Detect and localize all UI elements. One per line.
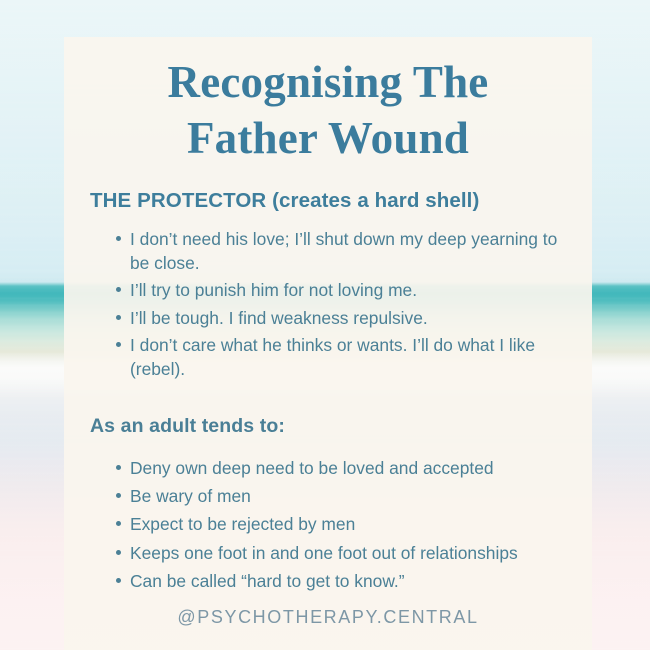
- protector-bullet-list: I don’t need his love; I’ll shut down my…: [64, 213, 592, 382]
- list-item: I don’t need his love; I’ll shut down my…: [116, 227, 558, 276]
- list-item: I’ll try to punish him for not loving me…: [116, 278, 558, 302]
- list-item: Be wary of men: [116, 484, 564, 508]
- list-item: Deny own deep need to be loved and accep…: [116, 456, 564, 480]
- adult-bullet-list: Deny own deep need to be loved and accep…: [64, 438, 592, 594]
- list-item: Keeps one foot in and one foot out of re…: [116, 541, 564, 565]
- page-title: Recognising The Father Wound: [64, 37, 592, 167]
- page-title-line-2: Father Wound: [187, 113, 469, 163]
- content-card: Recognising The Father Wound THE PROTECT…: [64, 37, 592, 650]
- list-item: I don’t care what he thinks or wants. I’…: [116, 333, 558, 382]
- poster-canvas: Recognising The Father Wound THE PROTECT…: [0, 0, 650, 650]
- section-heading-adult: As an adult tends to:: [64, 385, 592, 438]
- list-item: Expect to be rejected by men: [116, 512, 564, 536]
- section-heading-protector: THE PROTECTOR (creates a hard shell): [64, 167, 592, 213]
- list-item: I’ll be tough. I find weakness repulsive…: [116, 306, 558, 330]
- page-title-line-1: Recognising The: [168, 57, 489, 107]
- account-handle: @PSYCHOTHERAPY.CENTRAL: [64, 607, 592, 628]
- list-item: Can be called “hard to get to know.”: [116, 569, 564, 593]
